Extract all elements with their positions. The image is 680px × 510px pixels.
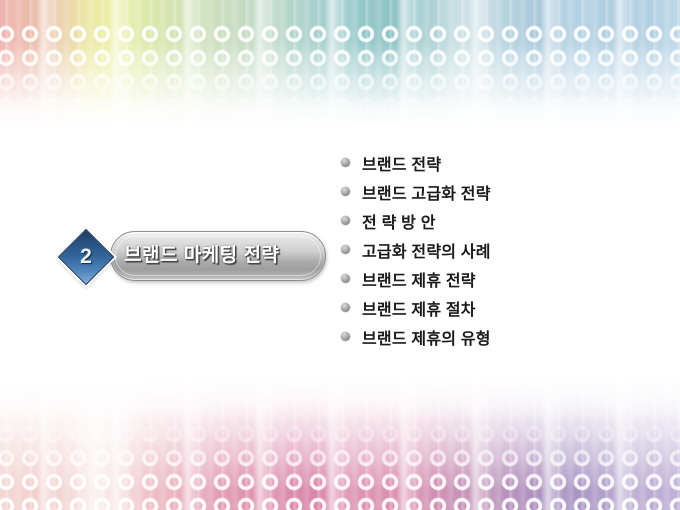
list-item-label: 브랜드 제휴의 유형 [362, 325, 491, 349]
bottom-decorative-band [0, 380, 680, 510]
list-item-label: 브랜드 제휴 전략 [362, 267, 476, 291]
bottom-band-ring-pattern [0, 398, 680, 510]
list-item: 전 략 방 안 [341, 206, 641, 235]
bottom-band-wide-stripes [0, 380, 680, 510]
section-title-group: 브랜드 마케팅 전략 2 [58, 229, 326, 285]
sphere-bullet-icon [341, 245, 350, 254]
sphere-bullet-icon [341, 216, 350, 225]
top-band-stripe-texture [0, 0, 680, 128]
section-number-text: 2 [58, 229, 114, 285]
sphere-bullet-icon [341, 274, 350, 283]
list-item: 브랜드 제휴 전략 [341, 264, 641, 293]
top-band-white-fade [0, 0, 680, 128]
bottom-band-white-fade [0, 380, 680, 510]
list-item-label: 브랜드 제휴 절차 [362, 296, 476, 320]
agenda-list: 브랜드 전략 브랜드 고급화 전략 전 략 방 안 고급화 전략의 사례 브랜드… [341, 148, 641, 351]
list-item: 브랜드 제휴 절차 [341, 293, 641, 322]
sphere-bullet-icon [341, 303, 350, 312]
section-title-text: 브랜드 마케팅 전략 [124, 229, 324, 283]
sphere-bullet-icon [341, 187, 350, 196]
list-item: 브랜드 제휴의 유형 [341, 322, 641, 351]
sphere-bullet-icon [341, 158, 350, 167]
top-band-color-wash [0, 0, 680, 128]
list-item: 고급화 전략의 사례 [341, 235, 641, 264]
bottom-band-stripe-texture [0, 380, 680, 510]
sphere-bullet-icon [341, 332, 350, 341]
section-number-badge: 2 [58, 229, 114, 285]
top-band-wide-stripes [0, 0, 680, 128]
top-band-ring-pattern [0, 22, 680, 128]
list-item-label: 브랜드 전략 [362, 151, 441, 175]
top-decorative-band [0, 0, 680, 128]
list-item-label: 브랜드 고급화 전략 [362, 180, 491, 204]
list-item: 브랜드 고급화 전략 [341, 177, 641, 206]
slide-canvas: 브랜드 마케팅 전략 2 브랜드 전략 브랜드 고급화 전략 전 략 방 안 고… [0, 0, 680, 510]
list-item: 브랜드 전략 [341, 148, 641, 177]
list-item-label: 전 략 방 안 [362, 209, 436, 233]
list-item-label: 고급화 전략의 사례 [362, 238, 491, 262]
bottom-band-color-wash [0, 380, 680, 510]
